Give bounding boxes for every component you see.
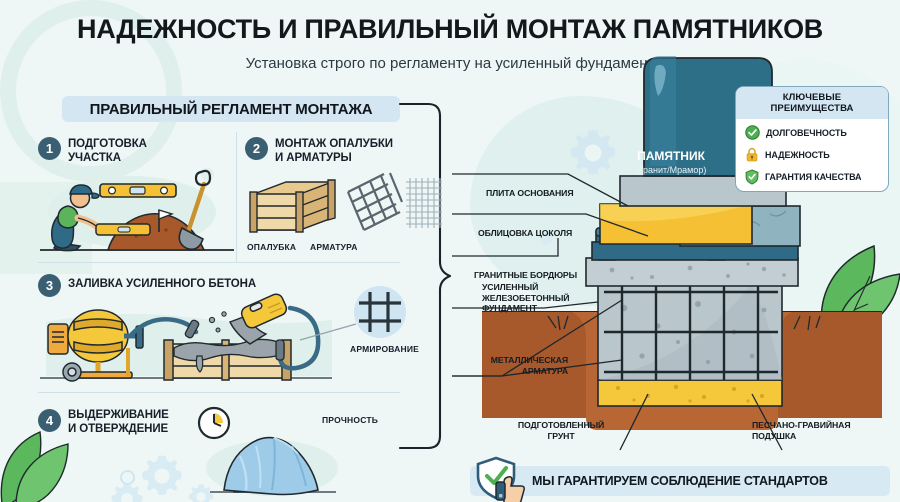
label-prepared-soil: ПОДГОТОВЛЕННЫЙ ГРУНТ	[506, 420, 616, 441]
step-number-4: 4	[38, 409, 61, 432]
illustration-curing-tarp	[196, 412, 346, 500]
step-label-2: МОНТАЖ ОПАЛУБКИ И АРМАТУРЫ	[275, 138, 393, 165]
label-plinth-facing: ОБЛИЦОВКА ЦОКОЛЯ	[478, 228, 572, 239]
infographic-root: НАДЕЖНОСТЬ И ПРАВИЛЬНЫЙ МОНТАЖ ПАМЯТНИКО…	[0, 0, 900, 502]
page-title: НАДЕЖНОСТЬ И ПРАВИЛЬНЫЙ МОНТАЖ ПАМЯТНИКО…	[0, 14, 900, 45]
step-label-4: ВЫДЕРЖИВАНИЕ И ОТВЕРЖДЕНИЕ	[68, 409, 169, 436]
advantages-box: КЛЮЧЕВЫЕ ПРЕИМУЩЕСТВА ДОЛГОВЕЧНОСТЬ НАДЕ…	[735, 86, 889, 192]
step-number-1: 1	[38, 137, 61, 160]
divider-horizontal-1	[38, 262, 400, 263]
divider-horizontal-2	[38, 392, 400, 393]
label-reinforced-foundation-l2: ЖЕЛЕЗОБЕТОННЫЙ	[482, 293, 569, 304]
label-metal-rebar-l1: МЕТАЛЛИЧЕСКАЯ	[468, 355, 568, 366]
monument-subtitle: (Гранит/Мрамор)	[616, 165, 726, 175]
caption-rebar: АРМАТУРА	[310, 242, 358, 252]
label-reinforced-foundation-l3: ФУНДАМЕНТ	[482, 303, 569, 314]
advantages-heading: КЛЮЧЕВЫЕ ПРЕИМУЩЕСТВА	[736, 87, 888, 119]
step-label-4-line1: ВЫДЕРЖИВАНИЕ	[68, 409, 169, 423]
divider-vertical-1	[236, 132, 237, 262]
step-number-2: 2	[245, 137, 268, 160]
guarantee-banner-text: МЫ ГАРАНТИРУЕМ СОБЛЮДЕНИЕ СТАНДАРТОВ	[532, 474, 828, 488]
step-label-3: ЗАЛИВКА УСИЛЕННОГО БЕТОНА	[68, 278, 256, 292]
step-label-1: ПОДГОТОВКА УЧАСТКА	[68, 138, 147, 165]
illustration-site-preparation	[36, 162, 241, 260]
label-base-slab: ПЛИТА ОСНОВАНИЯ	[486, 188, 573, 199]
advantage-label-quality: ГАРАНТИЯ КАЧЕСТВА	[765, 172, 861, 182]
label-reinforced-foundation-l1: УСИЛЕННЫЙ	[482, 282, 569, 293]
advantage-label-durability: ДОЛГОВЕЧНОСТЬ	[766, 128, 847, 138]
label-sand-gravel-l1: ПЕСЧАНО-ГРАВИЙНАЯ	[752, 420, 850, 431]
caption-strength: ПРОЧНОСТЬ	[322, 415, 378, 425]
label-reinforced-foundation: УСИЛЕННЫЙ ЖЕЛЕЗОБЕТОННЫЙ ФУНДАМЕНТ	[482, 282, 569, 314]
step-label-1-line1: ПОДГОТОВКА	[68, 138, 147, 152]
step-label-2-line1: МОНТАЖ ОПАЛУБКИ	[275, 138, 393, 152]
leader-line-reinforcing	[300, 322, 360, 342]
left-panel-heading: ПРАВИЛЬНЫЙ РЕГЛАМЕНТ МОНТАЖА	[62, 96, 400, 122]
advantage-item-durability[interactable]: ДОЛГОВЕЧНОСТЬ	[745, 125, 847, 140]
label-sand-gravel-l2: ПОДУШКА	[752, 431, 850, 442]
illustration-formwork-rebar	[242, 168, 442, 240]
advantages-heading-l1: КЛЮЧЕВЫЕ	[783, 92, 841, 103]
caption-reinforcing: АРМИРОВАНИЕ	[350, 344, 419, 354]
label-sand-gravel: ПЕСЧАНО-ГРАВИЙНАЯ ПОДУШКА	[752, 420, 850, 441]
lock-icon	[745, 147, 759, 162]
shield-check-icon	[745, 169, 759, 185]
check-circle-icon	[745, 125, 760, 140]
advantage-label-reliability: НАДЕЖНОСТЬ	[765, 150, 830, 160]
label-prepared-soil-l2: ГРУНТ	[506, 431, 616, 442]
caption-formwork: ОПАЛУБКА	[247, 242, 296, 252]
monument-title: ПАМЯТНИК	[616, 149, 726, 163]
step-label-2-line2: И АРМАТУРЫ	[275, 152, 393, 166]
shield-check-thumbsup-icon	[474, 456, 536, 502]
advantage-item-quality-guarantee[interactable]: ГАРАНТИЯ КАЧЕСТВА	[745, 169, 861, 185]
label-metal-rebar: МЕТАЛЛИЧЕСКАЯ АРМАТУРА	[468, 355, 568, 376]
illustration-concrete-pour	[36, 292, 336, 388]
label-granite-curbs: ГРАНИТНЫЕ БОРДЮРЫ	[474, 270, 577, 281]
step-label-4-line2: И ОТВЕРЖДЕНИЕ	[68, 423, 169, 437]
reinforcing-badge-icon	[352, 284, 408, 340]
advantage-item-reliability[interactable]: НАДЕЖНОСТЬ	[745, 147, 830, 162]
bracket-connector	[398, 100, 454, 452]
label-metal-rebar-l2: АРМАТУРА	[468, 366, 568, 377]
step-label-3-line1: ЗАЛИВКА УСИЛЕННОГО БЕТОНА	[68, 278, 256, 292]
label-prepared-soil-l1: ПОДГОТОВЛЕННЫЙ	[506, 420, 616, 431]
advantages-heading-l2: ПРЕИМУЩЕСТВА	[770, 103, 853, 114]
